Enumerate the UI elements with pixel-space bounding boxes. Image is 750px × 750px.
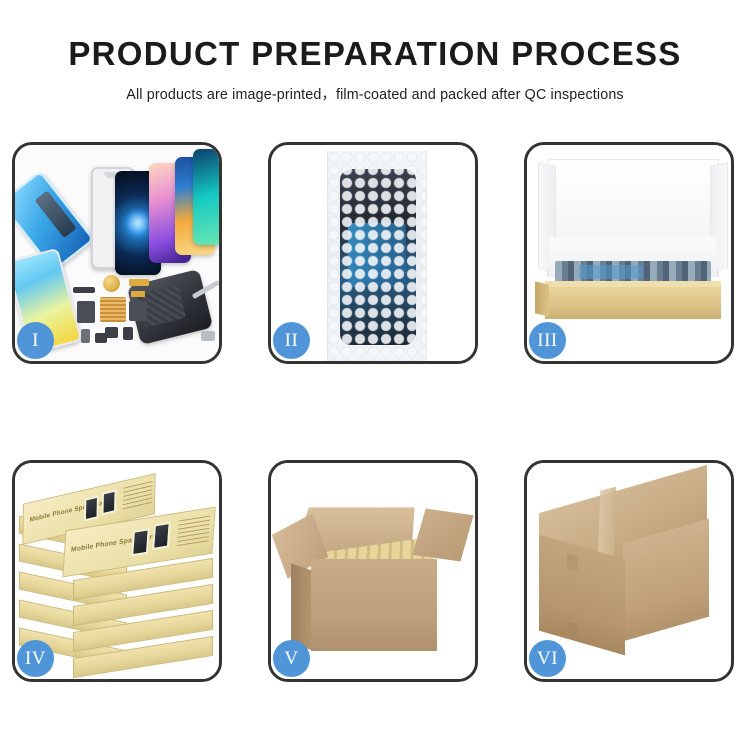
sealed-carton-seam-upper <box>567 553 578 571</box>
process-step-6: VI <box>524 460 734 682</box>
part-button-small <box>123 327 133 340</box>
kraft-box-speclines-b <box>177 516 210 548</box>
kraft-box-thumb-b2 <box>152 522 171 550</box>
bubble-wrap-layer <box>328 151 426 361</box>
page-subtitle: All products are image-printed，film-coat… <box>0 83 750 104</box>
step-badge-5: V <box>273 640 310 677</box>
header: PRODUCT PREPARATION PROCESS All products… <box>0 0 750 104</box>
screen-display-teal <box>193 149 219 245</box>
step-badge-3: III <box>529 322 566 359</box>
step-badge-4: IV <box>17 640 54 677</box>
part-battery-tab <box>81 329 90 343</box>
part-vibrator <box>95 333 107 343</box>
process-step-2: II <box>268 142 478 364</box>
part-flex-cable-a <box>129 279 149 286</box>
box-left-side-kraft <box>535 281 549 316</box>
kraft-box-speclines-a <box>123 481 153 512</box>
kraft-box-thumb-b1 <box>131 528 150 556</box>
step-badge-6: VI <box>529 640 566 677</box>
part-flex-strip-left <box>77 301 95 323</box>
kraft-box-label-a: Mobile Phone Spare Parts <box>30 498 112 524</box>
step-badge-2: II <box>273 322 310 359</box>
process-step-grid: I II III <box>12 142 738 682</box>
sealed-carton-seam-lower <box>567 621 578 638</box>
page-title: PRODUCT PREPARATION PROCESS <box>0 36 750 72</box>
kraft-box-thumb-a1 <box>84 495 99 521</box>
carton-front-face <box>311 559 437 651</box>
product-preparation-infographic: PRODUCT PREPARATION PROCESS All products… <box>0 0 750 750</box>
part-flex-strip-right <box>129 301 147 321</box>
carton-left-side <box>291 563 313 650</box>
process-step-5: V <box>268 460 478 682</box>
part-speaker-coil <box>103 275 120 292</box>
part-chip-array <box>100 297 126 322</box>
part-connector-bar <box>73 287 95 293</box>
process-step-1: I <box>12 142 222 364</box>
part-flex-cable-b <box>131 291 145 297</box>
part-screw-set <box>201 331 215 341</box>
kraft-box-thumb-a2 <box>102 489 117 515</box>
bubble-wrap-bag <box>327 151 427 361</box>
box-front-kraft <box>545 287 721 319</box>
kraft-box-stack: Mobile Phone Spare Parts Mobile Phone Sp… <box>19 475 219 671</box>
carton-flap-right <box>412 509 473 562</box>
step-badge-1: I <box>17 322 54 359</box>
process-step-3: III <box>524 142 734 364</box>
process-step-4: Mobile Phone Spare Parts Mobile Phone Sp… <box>12 460 222 682</box>
